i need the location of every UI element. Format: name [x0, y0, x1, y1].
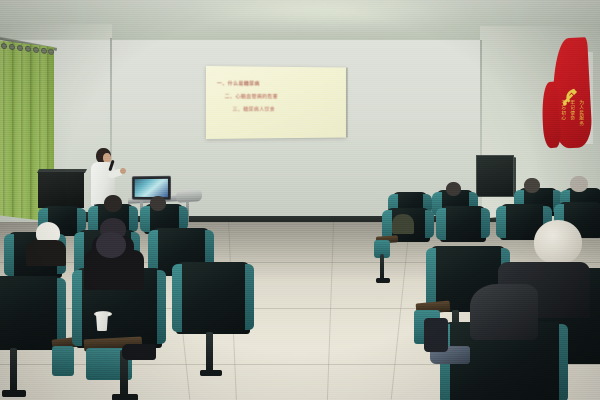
projector-unit: [176, 189, 202, 203]
laptop-screen: [135, 179, 168, 197]
emblem-text-col-3: 为人民服务: [579, 100, 585, 126]
wall-corner-right: [480, 40, 482, 230]
meeting-room-photo: 一、什么是糖尿病 二、心脑血管病的危害 三、糖尿病人饮食 不忘初心: [0, 0, 600, 400]
slide-line-1: 一、什么是糖尿病: [217, 82, 339, 88]
paper-cup-on-tablet: [95, 312, 109, 331]
presenter-hand: [120, 168, 126, 174]
slide-text-block: 一、什么是糖尿病 二、心脑血管病的危害 三、糖尿病人饮食: [217, 82, 339, 114]
slide-line-2: 二、心脑血管病的危害: [217, 95, 339, 100]
presentation-laptop: [132, 176, 171, 201]
table-row: [440, 206, 486, 242]
screen-right-edge: [346, 68, 348, 138]
emblem-text-col-1: 不忘初心: [561, 100, 567, 121]
table-row: [0, 276, 62, 350]
attendee-shoe-left: [122, 344, 156, 360]
table-row: [176, 262, 250, 334]
party-flame-emblem: 不忘初心 牢记使命 为人民服务: [540, 38, 598, 150]
slide-line-3: 三、糖尿病人饮食: [217, 108, 339, 113]
emblem-text-col-2: 牢记使命: [570, 100, 576, 121]
av-cabinet: [38, 172, 84, 208]
ceiling-light-glow: [180, 0, 480, 30]
wall-speaker: [476, 155, 514, 197]
projection-screen: 一、什么是糖尿病 二、心脑血管病的危害 三、糖尿病人饮食: [206, 66, 346, 139]
